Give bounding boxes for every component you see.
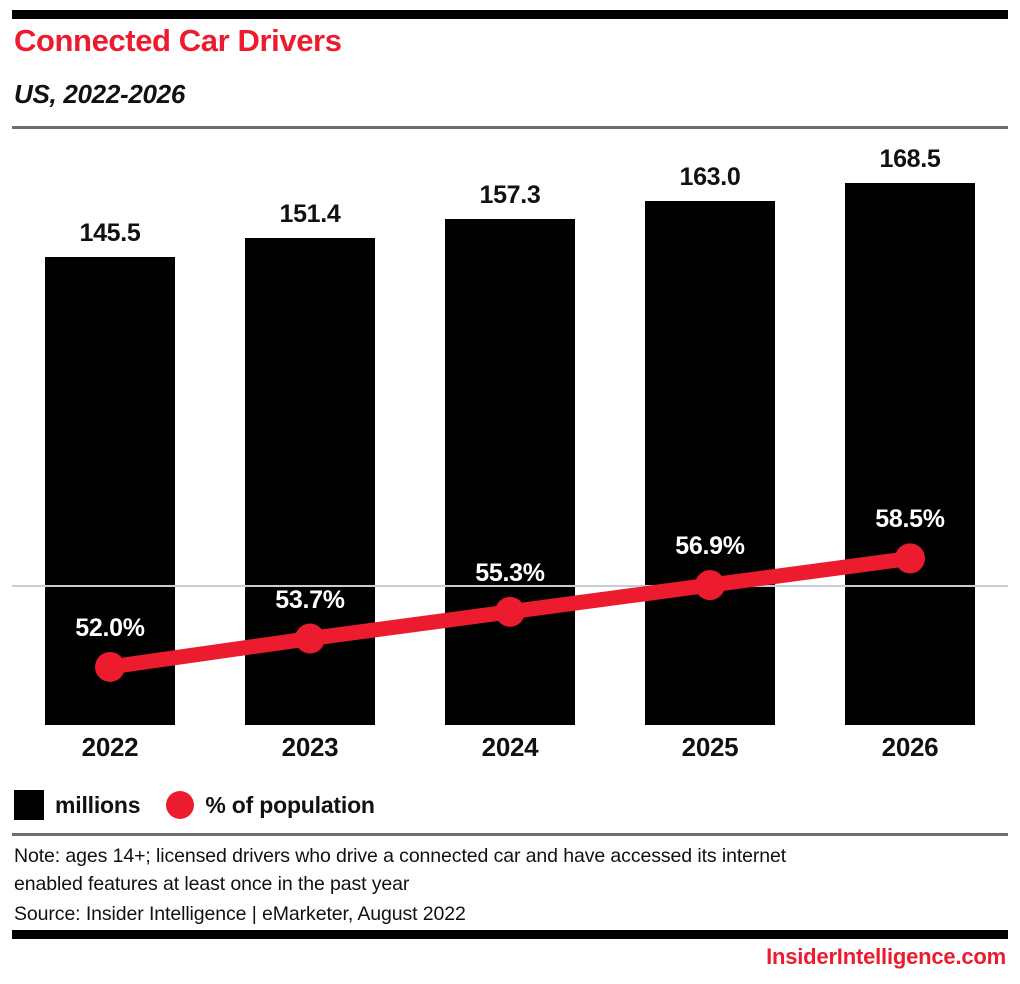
legend-divider xyxy=(12,833,1008,836)
header-divider xyxy=(12,126,1008,129)
line-marker-2023 xyxy=(295,624,325,654)
top-divider xyxy=(12,10,1008,19)
x-tick-2023: 2023 xyxy=(220,732,400,763)
note-line-1: Note: ages 14+; licensed drivers who dri… xyxy=(14,842,974,870)
footnotes: Note: ages 14+; licensed drivers who dri… xyxy=(14,842,974,928)
chart-page: Connected Car Drivers US, 2022-2026 145.… xyxy=(0,0,1020,984)
percent-value-label-2024: 55.3% xyxy=(420,559,600,588)
chart-legend: millions % of population xyxy=(14,790,375,820)
square-swatch-icon xyxy=(14,790,44,820)
circle-swatch-icon xyxy=(166,791,194,819)
percent-value-label-2022: 52.0% xyxy=(20,614,200,643)
page-title: Connected Car Drivers xyxy=(14,24,342,58)
line-marker-2022 xyxy=(95,652,125,682)
percent-value-label-2026: 58.5% xyxy=(820,505,1000,534)
percent-value-label-2023: 53.7% xyxy=(220,586,400,615)
x-axis-labels: 20222023202420252026 xyxy=(0,732,1020,772)
page-subtitle: US, 2022-2026 xyxy=(14,80,185,109)
legend-label-percent-of-population: % of population xyxy=(205,792,374,819)
x-tick-2024: 2024 xyxy=(420,732,600,763)
bottom-divider xyxy=(12,930,1008,939)
legend-item-millions: millions xyxy=(14,790,140,820)
line-marker-2025 xyxy=(695,570,725,600)
percent-value-label-2025: 56.9% xyxy=(620,532,800,561)
x-tick-2026: 2026 xyxy=(820,732,1000,763)
chart-plot-area: 145.5151.4157.3163.0168.5 52.0%53.7%55.3… xyxy=(0,140,1020,730)
brand-link[interactable]: InsiderIntelligence.com xyxy=(766,944,1006,970)
line-marker-2026 xyxy=(895,543,925,573)
line-marker-2024 xyxy=(495,597,525,627)
legend-item-percent-of-population: % of population xyxy=(166,791,374,819)
source-line: Source: Insider Intelligence | eMarketer… xyxy=(14,900,974,928)
x-tick-2022: 2022 xyxy=(20,732,200,763)
legend-label-millions: millions xyxy=(55,792,140,819)
x-tick-2025: 2025 xyxy=(620,732,800,763)
note-line-2: enabled features at least once in the pa… xyxy=(14,870,974,898)
